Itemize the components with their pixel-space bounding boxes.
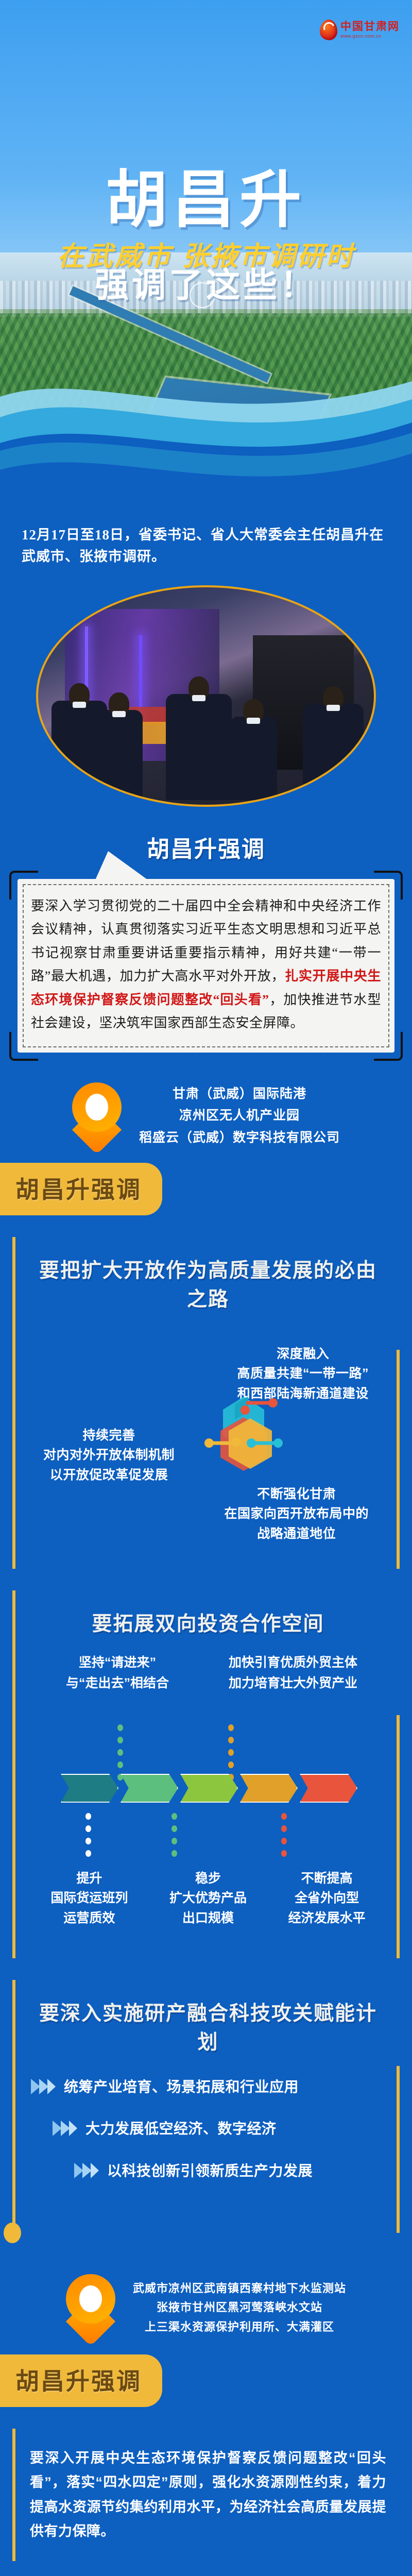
wave-ribbon-decoration <box>0 361 412 515</box>
section-heading: 要深入实施研产融合科技攻关赋能计划 <box>30 1997 386 2055</box>
double-chevron-icon <box>73 2162 100 2187</box>
double-chevron-icon <box>51 2120 78 2144</box>
flame-logo-icon <box>320 20 337 40</box>
emphasis-heading-1: 胡昌升强调 <box>0 831 412 863</box>
bullet-item: 以科技创新引领新质生产力发展 <box>73 2160 386 2187</box>
section-heading: 要把扩大开放作为高质量发展的必由之路 <box>30 1255 386 1312</box>
map-pin-icon <box>72 1082 122 1149</box>
bullet-text: 大力发展低空经济、数字经济 <box>85 2117 386 2141</box>
dot-connector <box>281 1813 287 1857</box>
dot-connector <box>171 1813 177 1857</box>
dot-connector <box>228 1724 234 1781</box>
corner-bracket <box>374 1032 403 1061</box>
page-title: 胡昌升 <box>0 149 412 239</box>
location-names-2: 武威市凉州区武南镇西寨村地下水监测站 张掖市甘州区黑河莺落峡水文站 上三渠水资源… <box>133 2279 346 2336</box>
infographic-page: 中国甘肃网 www.gscn.com.cn 胡昌升 在武威市 张掖市调研时 强调… <box>0 0 412 2576</box>
official-figure <box>95 710 143 800</box>
official-figure <box>230 717 277 800</box>
section-open-up: 要把扩大开放作为高质量发展的必由之路 深度融入 高质量共建“一带一路” 和西部陆… <box>12 1237 400 1569</box>
corner-bracket <box>9 1032 38 1061</box>
hero-subtitle-main: 强调了这些！ <box>0 258 412 307</box>
location-block-1: 甘肃（武威）国际陆港 凉州区无人机产业园 稻盛云（武威）数字科技有限公司 <box>0 1082 412 1149</box>
end-dot <box>4 2223 21 2243</box>
emphasis-tab-row-1: 胡昌升强调 <box>0 1149 412 1215</box>
location-name: 稻盛云（武威）数字科技有限公司 <box>139 1127 340 1149</box>
section-water-intro: 要深入开展中央生态环境保护督察反馈问题整改“回头看”，落实“四水四定”原则，强化… <box>12 2429 400 2561</box>
chevron-step <box>121 1774 178 1803</box>
bullet-item: 大力发展低空经济、数字经济 <box>51 2117 386 2144</box>
location-name: 凉州区无人机产业园 <box>139 1105 340 1127</box>
chevron-step <box>240 1774 298 1803</box>
water-paragraph-1: 要深入开展中央生态环境保护督察反馈问题整改“回头看”，落实“四水四定”原则，强化… <box>30 2446 386 2544</box>
corner-bracket <box>374 871 403 900</box>
quad-item-bottom-right: 不断强化甘肃 在国家向西开放布局中的 战略通道地位 <box>224 1484 369 1544</box>
emphasis-label: 胡昌升强调 <box>147 831 265 863</box>
quote-text-1: 要深入学习贯彻党的二十届四中全会精神和中央经济工作会议精神，认真贯彻落实习近平生… <box>31 894 381 1035</box>
quad-item-bottom-left: 持续完善 对内对外开放体制机制 以开放促改革促发展 <box>43 1426 175 1485</box>
flow-caption-right: 加快引育优质外贸主体 加力培育壮大外贸产业 <box>208 1652 378 1693</box>
emphasis-tab: 胡昌升强调 <box>0 1163 162 1215</box>
map-pin-icon <box>66 2274 115 2341</box>
hero-banner: 中国甘肃网 www.gscn.com.cn 胡昌升 在武威市 张掖市调研时 强调… <box>0 0 412 515</box>
location-block-2: 武威市凉州区武南镇西寨村地下水监测站 张掖市甘州区黑河莺落峡水文站 上三渠水资源… <box>0 2274 412 2341</box>
flow-bottom-item: 提升 国际货运班列 运营质效 <box>50 1869 128 1928</box>
corner-bracket <box>9 871 38 900</box>
photo-oval-inspection <box>36 585 376 807</box>
location-name: 甘肃（武威）国际陆港 <box>139 1083 340 1105</box>
section-heading: 要拓展双向投资合作空间 <box>30 1608 386 1637</box>
quote-note-card-1: 要深入学习贯彻党的二十届四中全会精神和中央经济工作会议精神，认真贯彻落实习近平生… <box>18 879 394 1053</box>
bullet-text: 以科技创新引领新质生产力发展 <box>107 2160 386 2183</box>
site-name: 中国甘肃网 <box>340 21 400 32</box>
flow-caption-left: 坚持“请进来” 与“走出去”相结合 <box>45 1652 190 1693</box>
site-logo: 中国甘肃网 www.gscn.com.cn <box>320 20 400 40</box>
flow-bottom-item: 稳步 扩大优势产品 出口规模 <box>169 1869 247 1928</box>
hex-network-icon <box>195 1386 293 1484</box>
bullet-text: 统筹产业培育、场景拓展和行业应用 <box>64 2076 386 2099</box>
intro-paragraph: 12月17日至18日，省委书记、省人大常委会主任胡昌升在武威市、张掖市调研。 <box>0 515 412 568</box>
chevron-step <box>61 1774 118 1803</box>
location-name: 武威市凉州区武南镇西寨村地下水监测站 <box>133 2279 346 2298</box>
emphasis-tab-row-2: 胡昌升强调 <box>0 2341 412 2407</box>
official-figure <box>303 704 364 800</box>
official-figure <box>166 694 232 800</box>
double-chevron-icon <box>30 2078 57 2103</box>
officials-group <box>38 639 374 800</box>
chevron-row <box>61 1774 357 1803</box>
location-names-1: 甘肃（武威）国际陆港 凉州区无人机产业园 稻盛云（武威）数字科技有限公司 <box>139 1083 340 1149</box>
open-up-quad: 深度融入 高质量共建“一带一路” 和西部陆海新通道建设 持续完善 对内对外开放体… <box>30 1330 386 1551</box>
flow-bottom-captions: 提升 国际货运班列 运营质效 稳步 扩大优势产品 出口规模 不断提高 全省外向型… <box>30 1869 386 1928</box>
chevron-step <box>300 1774 357 1803</box>
dot-connector <box>117 1724 123 1781</box>
location-name: 张掖市甘州区黑河莺落峡水文站 <box>133 2298 346 2317</box>
tech-bullet-list: 统筹产业培育、场景拓展和行业应用 大力发展低空经济、数字经济 以科技创新引领新质… <box>30 2076 386 2187</box>
dot-connector <box>85 1813 91 1857</box>
location-name: 上三渠水资源保护利用所、大满灌区 <box>133 2317 346 2336</box>
flow-bottom-item: 不断提高 全省外向型 经济发展水平 <box>288 1869 366 1928</box>
speech-tail <box>95 851 149 881</box>
emphasis-tab: 胡昌升强调 <box>0 2354 162 2407</box>
section-tech: 要深入实施研产融合科技攻关赋能计划 统筹产业培育、场景拓展和行业应用 大力发展低… <box>12 1980 400 2233</box>
chevron-step <box>180 1774 238 1803</box>
investment-flow-diagram: 坚持“请进来” 与“走出去”相结合 加快引育优质外贸主体 加力培育壮大外贸产业 <box>30 1652 386 1941</box>
section-investment: 要拓展双向投资合作空间 坚持“请进来” 与“走出去”相结合 加快引育优质外贸主体… <box>12 1590 400 1958</box>
site-url: www.gscn.com.cn <box>340 34 400 39</box>
bullet-item: 统筹产业培育、场景拓展和行业应用 <box>30 2076 386 2103</box>
